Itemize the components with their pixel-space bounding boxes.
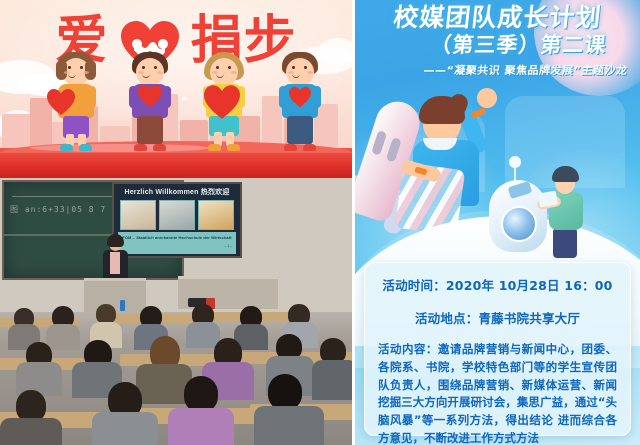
classroom-front-wall: 图 an:6+33|05 8 7 Herzlich Willkommen 热烈欢… (0, 178, 352, 318)
heart-icon (137, 84, 163, 108)
water-bottle (120, 300, 125, 311)
title-line-2: （第三季）第二课 (355, 34, 640, 57)
charity-banner: 爱 捐步 (0, 0, 352, 178)
heart-icon (288, 86, 312, 108)
audience-seating (0, 312, 352, 445)
kids-group (0, 50, 352, 160)
slide-footer-text: FOM – Staatlich anerkannte Hochschule de… (118, 235, 236, 240)
event-content: 活动内容：邀请品牌营销与新闻中心，团委、各院系、书院，学校特色部门等的学生宣传团… (378, 341, 617, 445)
slide-images (120, 200, 234, 230)
poster-collage: 爱 捐步 (0, 0, 640, 445)
left-panel: 爱 捐步 (0, 0, 352, 445)
lecture-hall-photo: 图 an:6+33|05 8 7 Herzlich Willkommen 热烈欢… (0, 178, 352, 445)
heart-icon (202, 84, 242, 120)
event-info-card: 活动时间：2020年 10月28日 16：00 活动地点：青藤书院共享大厅 活动… (364, 262, 631, 436)
right-panel: 校媒团队成长计划 （第三季）第二课 ——“凝聚共识 聚焦品牌发展”主题沙龙 (355, 0, 640, 445)
character-girl-orange (48, 52, 104, 160)
event-time: 活动时间：2020年 10月28日 16：00 (378, 275, 617, 294)
poster-illustration (355, 88, 640, 263)
slide-footer-band: FOM – Staatlich anerkannte Hochschule de… (118, 232, 236, 254)
character-girl-yellow (196, 52, 252, 160)
person-with-tablet-icon (541, 166, 597, 258)
character-boy-purple (122, 52, 178, 160)
chalkboard-text: 图 an:6+33|05 8 7 (10, 204, 106, 215)
slide-footer-mark: – 1 – (224, 244, 232, 248)
title-line-3: ——“凝聚共识 聚焦品牌发展”主题沙龙 (355, 62, 640, 78)
projection-screen: Herzlich Willkommen 热烈欢迎 FOM – Staatlich… (112, 182, 242, 258)
character-boy-blue (272, 52, 328, 160)
slide-title: Herzlich Willkommen 热烈欢迎 (114, 187, 240, 197)
poster-title: 校媒团队成长计划 （第三季）第二课 ——“凝聚共识 聚焦品牌发展”主题沙龙 (355, 4, 640, 78)
heart-icon (46, 88, 76, 116)
event-place: 活动地点：青藤书院共享大厅 (378, 308, 617, 327)
lecturer (100, 236, 130, 284)
title-line-1: 校媒团队成长计划 (355, 4, 640, 31)
